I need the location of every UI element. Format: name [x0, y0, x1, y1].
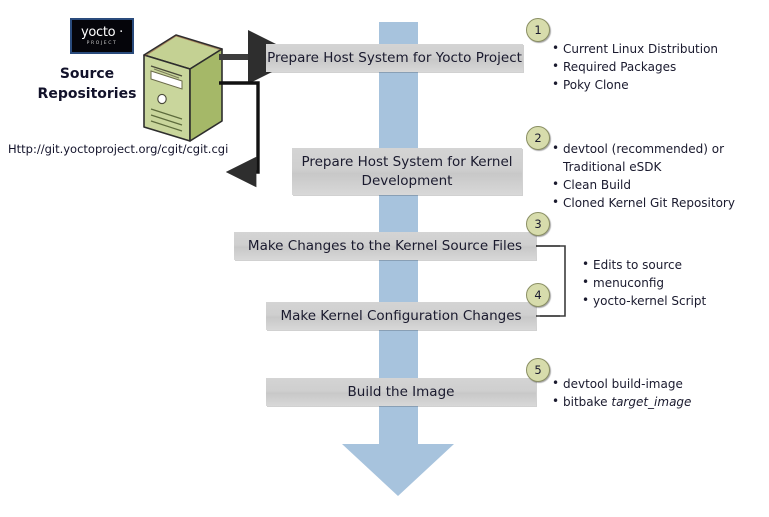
process-box-make-kernel-source-changes[interactable]: Make Changes to the Kernel Source Files	[234, 232, 536, 260]
step-2-bullets: devtool (recommended) orTraditional eSDK…	[550, 140, 750, 212]
yocto-logo-word: yocto ·	[81, 26, 123, 39]
list-item: Poky Clone	[563, 76, 718, 94]
step-badge-5: 5	[526, 358, 550, 382]
step-badge-number: 4	[534, 288, 541, 302]
list-item-command: bitbake	[563, 395, 611, 409]
server-icon	[140, 33, 226, 143]
step-badge-number: 3	[534, 217, 541, 231]
yocto-logo-subtitle: PROJECT	[87, 41, 118, 46]
steps-3-4-shared-bullets: Edits to source menuconfig yocto-kernel …	[580, 256, 706, 310]
process-box-build-the-image[interactable]: Build the Image	[266, 378, 536, 406]
main-flow-arrow-head	[342, 444, 454, 496]
process-box-prepare-host-kernel[interactable]: Prepare Host System for Kernel Developme…	[292, 148, 522, 195]
list-item: Clean Build	[563, 176, 750, 194]
list-item-line1: devtool (recommended) or	[563, 142, 724, 156]
process-box-label: Make Kernel Configuration Changes	[280, 307, 521, 325]
list-item: devtool build-image	[563, 375, 691, 393]
process-box-make-kernel-config-changes[interactable]: Make Kernel Configuration Changes	[266, 302, 536, 330]
list-item-line2: Traditional eSDK	[563, 160, 661, 174]
process-box-label: Prepare Host System for Yocto Project	[267, 49, 522, 67]
process-box-label: Build the Image	[348, 383, 455, 401]
source-repositories-label-line2: Repositories	[28, 84, 146, 104]
source-repositories-url: Http://git.yoctoproject.org/cgit/cgit.cg…	[8, 142, 228, 156]
step-badge-2: 2	[526, 126, 550, 150]
step-badge-number: 5	[534, 363, 541, 377]
list-item: yocto-kernel Script	[593, 292, 706, 310]
list-item: devtool (recommended) orTraditional eSDK	[563, 140, 750, 176]
step-badge-number: 1	[534, 23, 541, 37]
process-box-prepare-host-yocto[interactable]: Prepare Host System for Yocto Project	[266, 44, 523, 72]
list-item: menuconfig	[593, 274, 706, 292]
list-item: Required Packages	[563, 58, 718, 76]
list-item: Current Linux Distribution	[563, 40, 718, 58]
step-1-bullets: Current Linux Distribution Required Pack…	[550, 40, 718, 94]
list-item: bitbake target_image	[563, 393, 691, 411]
step-badge-4: 4	[526, 283, 550, 307]
step-badge-number: 2	[534, 131, 541, 145]
list-item-command-arg: target_image	[611, 395, 691, 409]
step-badge-3: 3	[526, 212, 550, 236]
step-5-bullets: devtool build-image bitbake target_image	[550, 375, 691, 411]
yocto-project-logo: yocto · PROJECT	[70, 18, 134, 54]
process-box-label: Prepare Host System for Kernel Developme…	[292, 153, 522, 189]
list-item: Edits to source	[593, 256, 706, 274]
diagram-canvas: yocto · PROJECT Source Repositories Http…	[0, 0, 769, 517]
source-repositories-label: Source Repositories	[28, 64, 146, 105]
process-box-label: Make Changes to the Kernel Source Files	[248, 237, 522, 255]
list-item: Cloned Kernel Git Repository	[563, 194, 750, 212]
source-repositories-label-line1: Source	[28, 64, 146, 84]
step-badge-1: 1	[526, 18, 550, 42]
